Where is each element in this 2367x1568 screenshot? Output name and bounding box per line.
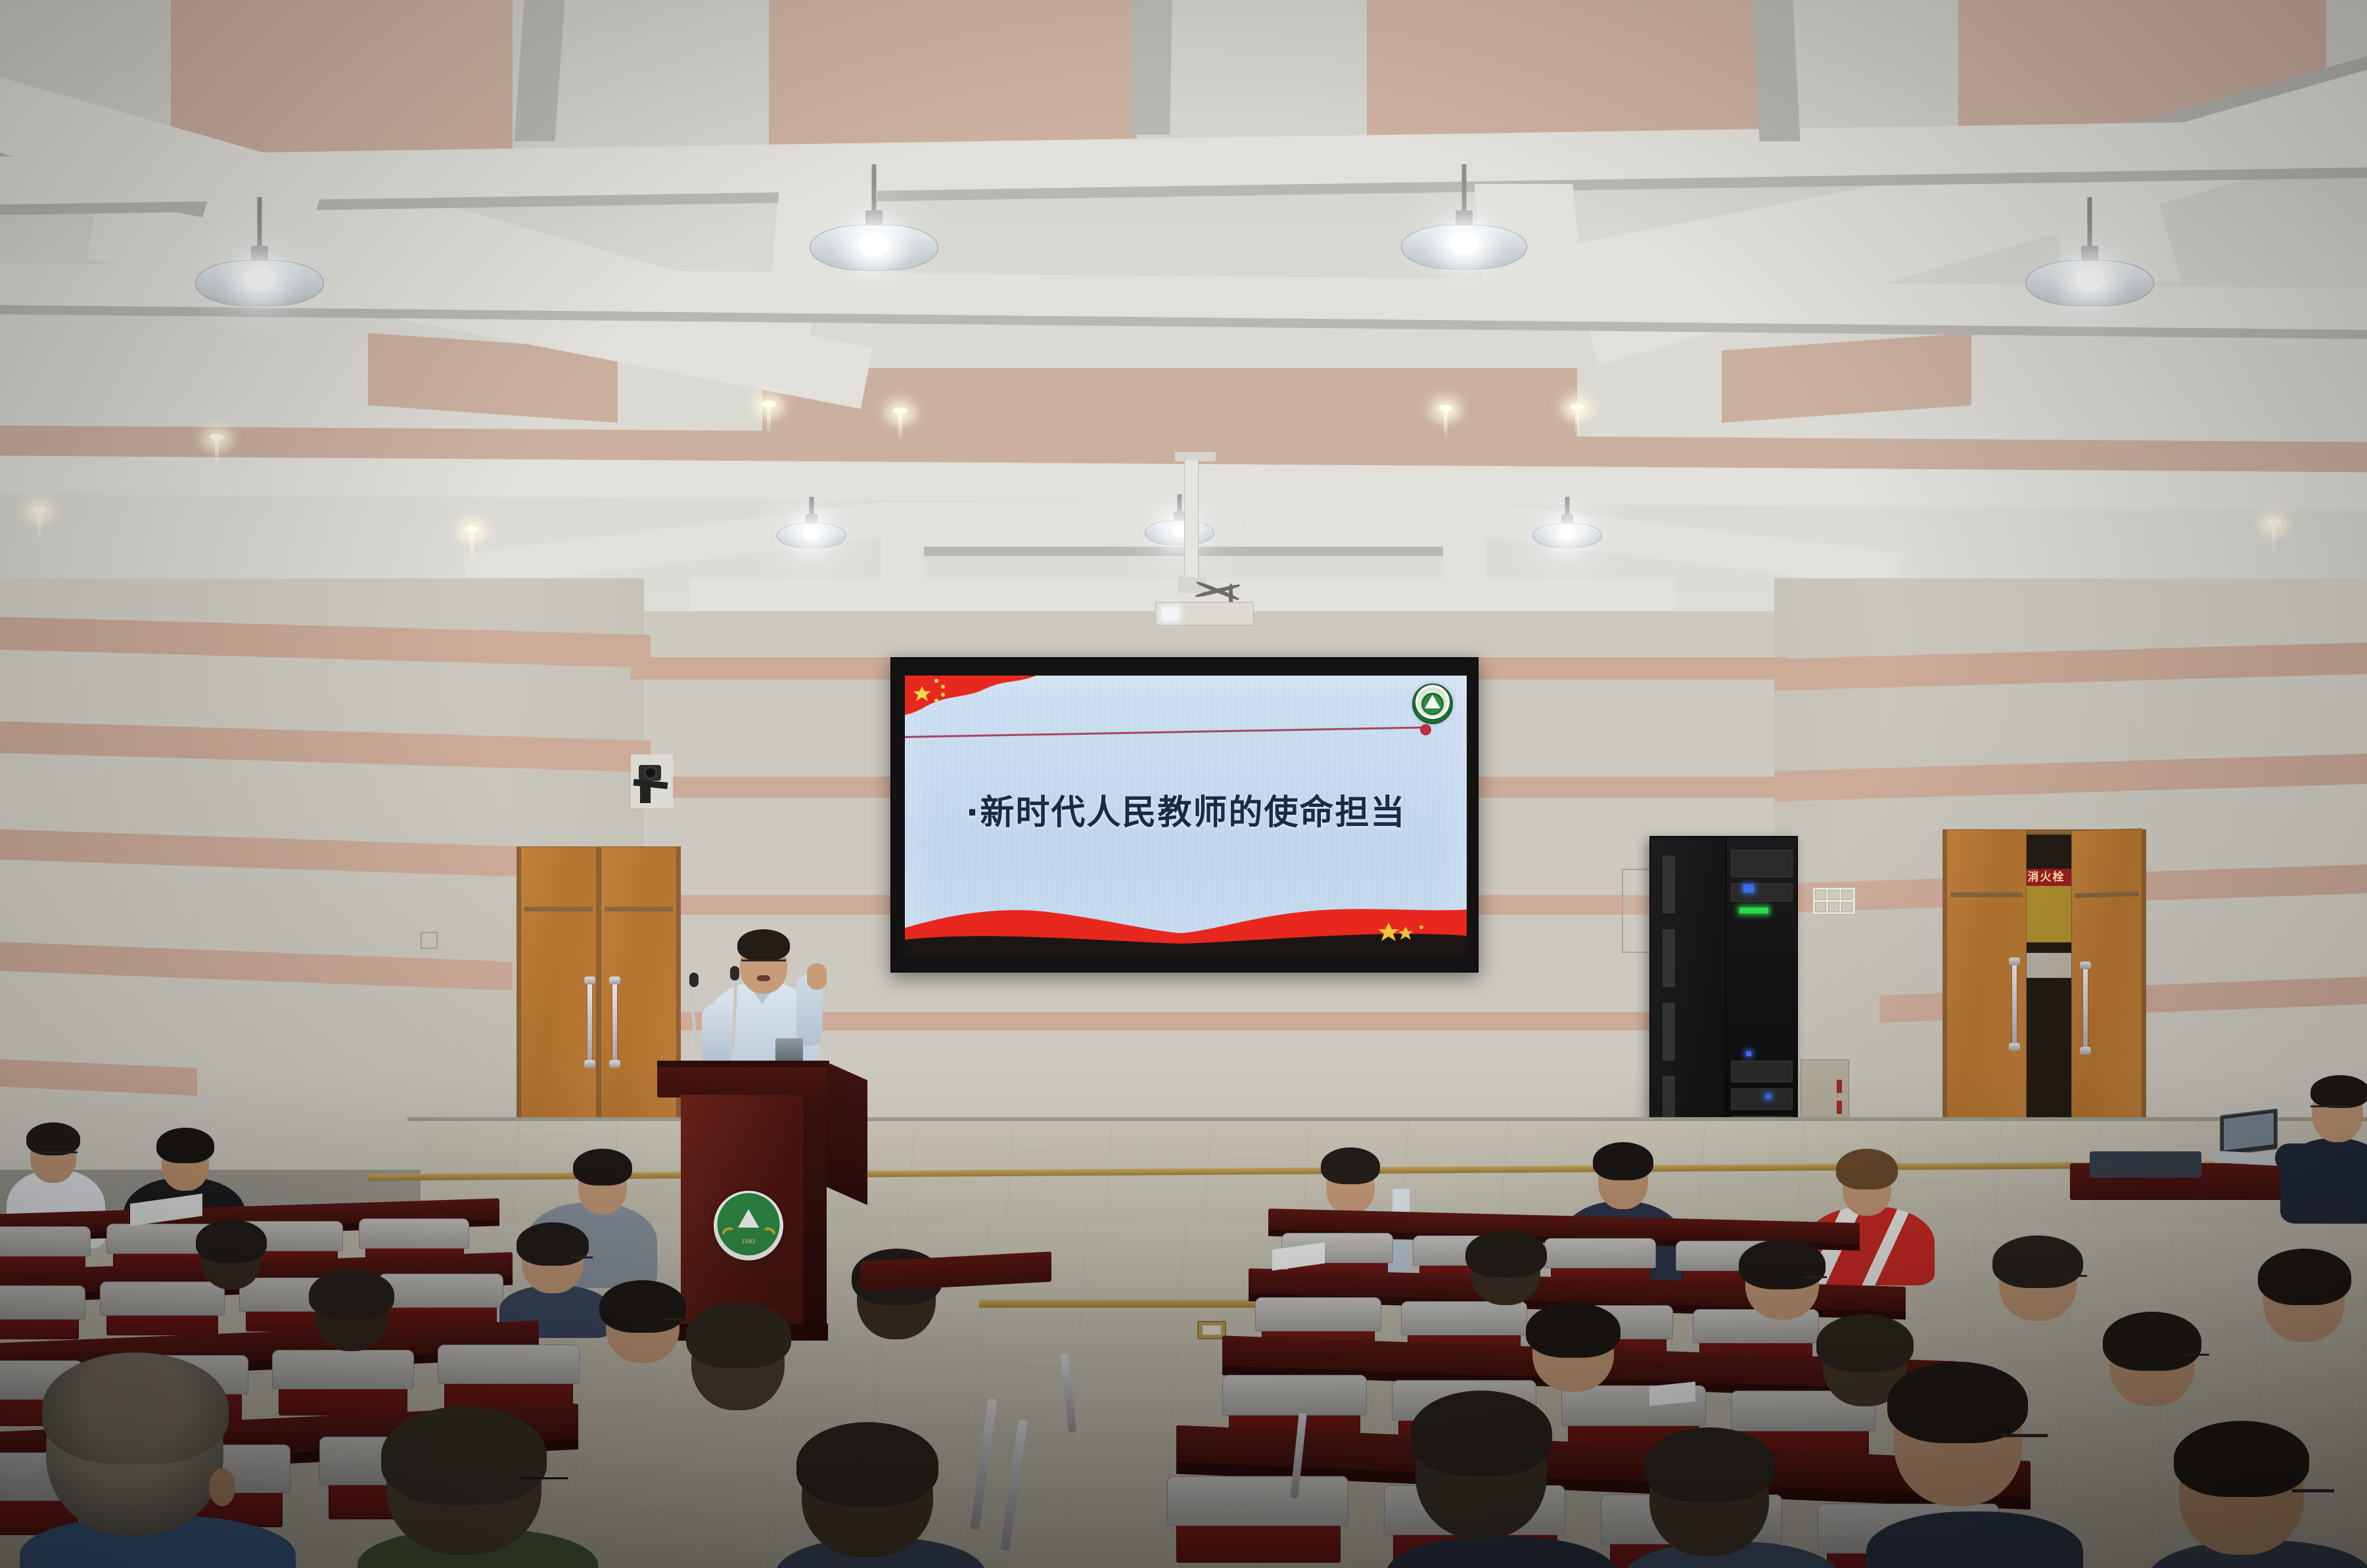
fire-hydrant-cabinet (2027, 886, 2071, 942)
wall-outlet-plate (421, 932, 438, 949)
pendant-dome-light (775, 497, 848, 556)
attendee (1393, 1388, 1603, 1568)
left-exit-doors[interactable] (517, 846, 681, 1162)
attendee (1873, 1362, 2070, 1568)
chinese-flag-ribbon (905, 676, 1063, 719)
podium-microphone (728, 966, 741, 1051)
attendee-ear (209, 1468, 235, 1506)
attendee (2162, 1419, 2359, 1568)
projected-slide: ·新时代人民教师的使命担当 (905, 676, 1467, 956)
av-equipment-rack (1649, 836, 1798, 1145)
attendee (1630, 1426, 1827, 1568)
light-switch-panel[interactable] (1812, 887, 1856, 915)
projection-screen-frame: ·新时代人民教师的使命担当 (890, 657, 1479, 973)
door-handle[interactable] (612, 981, 617, 1063)
presenter-mouth (757, 975, 770, 981)
rack-status-led-blue (1766, 1094, 1771, 1099)
fire-hydrant-sign: 消火栓 (2027, 869, 2071, 886)
pendant-dome-light (2024, 197, 2155, 302)
laptop-bag (2090, 1151, 2201, 1178)
rack-status-led-blue (1743, 885, 1754, 892)
attendee (293, 1270, 431, 1395)
aisle-trim-strip (979, 1300, 1288, 1308)
door-handle[interactable] (2012, 962, 2017, 1046)
presenter-hair (737, 929, 790, 961)
corridor-floor (2027, 953, 2071, 978)
university-emblem (1412, 683, 1453, 724)
rack-status-led-green (1739, 908, 1768, 913)
rack-status-led-blue (1746, 1051, 1751, 1056)
right-exit-doors[interactable]: 消火栓 (1942, 829, 2146, 1158)
attendee-laptop (2280, 1075, 2367, 1207)
attendee (2247, 1249, 2367, 1387)
rack-front-door[interactable] (1651, 837, 1726, 1143)
slide-title: ·新时代人民教师的使命担当 (905, 793, 1467, 833)
presenter-glasses (741, 959, 786, 961)
ceiling-mounted-projector (1143, 452, 1268, 623)
wall-surveillance-camera (631, 754, 673, 808)
podium-microphone (687, 973, 701, 1051)
lecture-hall-photo: ·新时代人民教师的使命担当 消火栓 (0, 0, 2367, 1568)
attendee (775, 1419, 986, 1568)
pendant-dome-light (1531, 497, 1603, 556)
open-door-gap: 消火栓 (2027, 835, 2071, 1158)
pendant-dome-light (1400, 164, 1528, 269)
pendant-dome-light (808, 164, 940, 269)
rack-open-bay (1726, 837, 1797, 1143)
attendee (181, 1220, 300, 1325)
slide-red-waves (905, 890, 1467, 956)
attendee (368, 1400, 585, 1568)
presenter-hand (807, 963, 827, 990)
attendee (26, 1339, 289, 1568)
pendant-dome-light (194, 197, 325, 302)
door-handle[interactable] (587, 981, 592, 1063)
slide-hairline-dot (1420, 724, 1431, 735)
door-handle[interactable] (2083, 966, 2088, 1050)
agricultural-university-emblem: 1882 (714, 1191, 783, 1260)
